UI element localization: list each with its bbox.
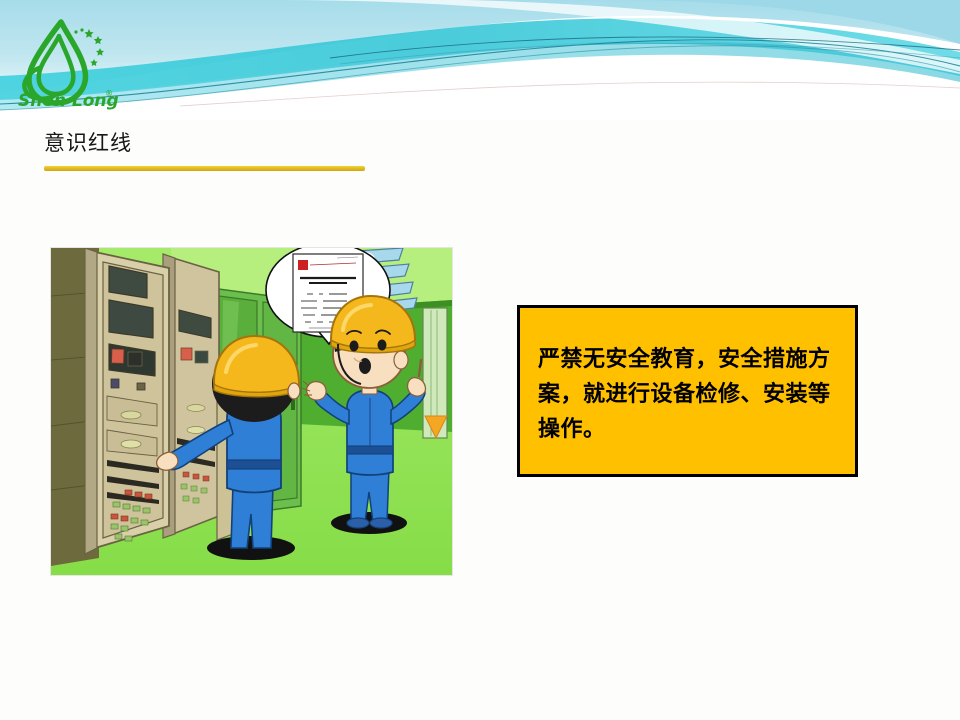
warning-callout-box: 严禁无安全教育，安全措施方案，就进行设备检修、安装等操作。 xyxy=(517,305,858,477)
title-underline xyxy=(44,166,365,171)
header-banner xyxy=(0,0,960,120)
warning-callout-text: 严禁无安全教育，安全措施方案，就进行设备检修、安装等操作。 xyxy=(538,342,841,447)
illustration-electrical-cabinet-maintenance xyxy=(51,248,452,575)
registered-mark: ® xyxy=(105,89,113,98)
page-title: 意识红线 xyxy=(44,128,464,158)
slide-root: Shen Long ® 意识红线 xyxy=(0,0,960,720)
shen-long-logo: Shen Long ® xyxy=(14,16,122,110)
logo-wordmark: Shen Long xyxy=(18,91,119,110)
page-title-block: 意识红线 xyxy=(44,128,464,171)
